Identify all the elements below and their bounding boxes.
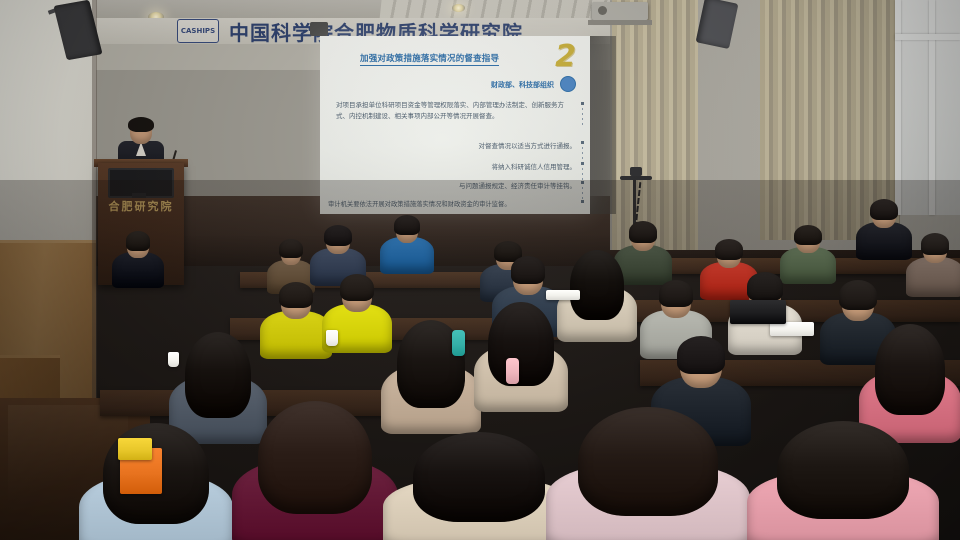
white-cup-2 xyxy=(168,352,179,367)
audience-member-hair xyxy=(677,336,725,374)
audience-member xyxy=(118,228,158,286)
laptop xyxy=(730,300,786,324)
audience-member-long-hair xyxy=(185,332,252,418)
audience-member-hair xyxy=(511,256,546,284)
white-cup xyxy=(326,330,338,346)
audience-member-hair xyxy=(324,225,351,246)
audience-member-hair xyxy=(629,221,658,243)
audience-member-hair xyxy=(747,272,783,301)
audience-member-hair xyxy=(839,280,876,309)
audience-member-hair xyxy=(126,231,151,251)
audience-member-hair xyxy=(715,239,744,260)
paper-sheet xyxy=(770,322,814,336)
audience-member xyxy=(862,196,906,258)
audience-member-hair xyxy=(794,225,821,245)
audience-member xyxy=(386,212,428,272)
audience-member xyxy=(268,278,324,356)
teal-bottle xyxy=(452,330,465,356)
audience-member xyxy=(568,404,728,540)
audience-member-long-hair xyxy=(488,302,553,386)
audience-member xyxy=(768,418,918,540)
audience-member xyxy=(250,398,380,540)
audience-member xyxy=(912,230,958,294)
audience-member xyxy=(330,270,384,350)
pink-thermos xyxy=(506,358,519,384)
audience-member-hair xyxy=(659,280,694,307)
audience-member-long-hair xyxy=(578,407,719,516)
audience-member xyxy=(484,300,558,408)
audience-member-long-hair xyxy=(570,250,625,320)
audience-member-hair xyxy=(870,199,897,220)
paper-sheet-2 xyxy=(546,290,580,300)
audience-member-hair xyxy=(394,215,420,235)
yellow-folder xyxy=(118,438,152,460)
lecture-hall-photo: CASHIPS 中国科学院合肥物质科学研究院 2 加强对政策措施落实情况的督查指… xyxy=(0,0,960,540)
audience-member-hair xyxy=(340,274,373,301)
audience-member-hair xyxy=(279,282,314,309)
audience-member xyxy=(404,430,554,540)
audience-member-long-hair xyxy=(258,401,372,514)
audience-member-long-hair xyxy=(875,324,945,414)
audience-member-hair xyxy=(921,233,950,255)
audience-member-hair xyxy=(279,239,303,258)
audience-member-long-hair xyxy=(413,432,545,522)
audience-member-long-hair xyxy=(777,421,909,519)
